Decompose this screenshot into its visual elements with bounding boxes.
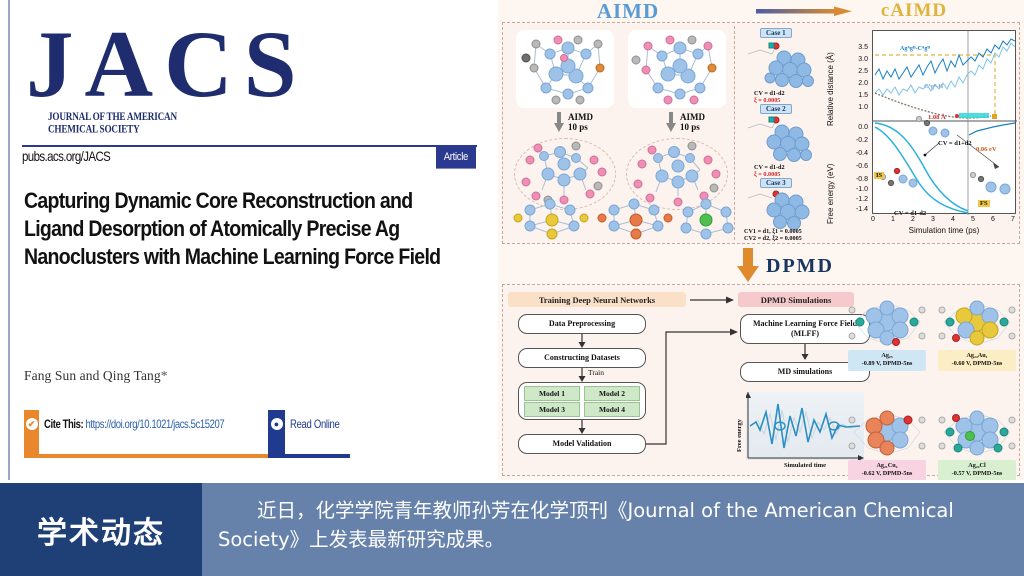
simulation-chart: Relative distance (Å) Free energy (eV) 3…: [828, 28, 1020, 240]
mini-plot-xlabel: Simulated time: [746, 462, 864, 469]
ytick-top-3: 2.0: [842, 80, 868, 87]
jacs-logo: J A C S JOURNAL OF THE AMERICAN CHEMICAL…: [22, 8, 204, 138]
paper-first-page: J A C S JOURNAL OF THE AMERICAN CHEMICAL…: [8, 0, 490, 480]
header-aimd: AIMD: [528, 0, 728, 22]
aimd-arrow-down-1: [554, 112, 564, 132]
annotation-fs: FS: [978, 200, 990, 207]
flow-arrow-down-2: [578, 368, 586, 382]
xtick-3: 3: [926, 216, 940, 223]
model-2[interactable]: Model 2: [584, 386, 640, 401]
case-3-cv2: CV2 = d2, ξ2 = 0.0005: [744, 235, 802, 242]
case-3-structure: [742, 186, 824, 230]
annotation-series-1: Agᴬgᴰ-Cᴬgᴰ: [900, 46, 930, 52]
pubs-url: pubs.acs.org/JACS: [22, 150, 110, 165]
result-formula-2: Ag₂₄Au₁: [938, 352, 1016, 360]
result-formula-3: Ag₂₁Cu₄: [848, 462, 926, 470]
header-aimd-text: AIMD: [597, 0, 659, 23]
doped-cluster-cu: [596, 196, 674, 242]
case-3-cv1: CV1 = d1, ξ1 = 0.0005: [744, 228, 802, 235]
aimd-step-label-2: AIMD 10 ps: [680, 112, 705, 133]
article-type-badge: Article: [436, 147, 476, 169]
annotation-cv-sum: CV = d1+d2: [938, 140, 972, 147]
header-caimd: cAIMD: [824, 0, 1004, 22]
paper-authors: Fang Sun and Qing Tang*: [24, 368, 168, 384]
cite-this-label: Cite This:: [44, 418, 83, 432]
result-detail-1: -0.89 V, DPMD-5ns: [848, 360, 926, 368]
xtick-2: 2: [906, 216, 920, 223]
arrow-down-icon: [736, 248, 760, 282]
result-caption-2: Ag₂₄Au₁ -0.60 V, DPMD-5ns: [938, 350, 1016, 371]
xtick-6: 6: [986, 216, 1000, 223]
case-2-xi: ξ = 0.0005: [754, 171, 780, 178]
ytick-bot-6: -1.2: [842, 196, 868, 203]
chart-ylabel-bottom: Free energy (eV): [826, 164, 835, 224]
bottom-banner: 学术动态 近日，化学学院青年教师孙芳在化学顶刊《Journal of the A…: [0, 483, 1024, 576]
result-detail-2: -0.60 V, DPMD-5ns: [938, 360, 1016, 368]
annotation-is: IS: [874, 172, 884, 179]
jacs-letter-c: C: [164, 21, 232, 108]
cite-this-text: Cite This: https://doi.org/10.1021/jacs.…: [44, 418, 224, 432]
ytick-bot-5: -1.0: [842, 186, 868, 193]
xtick-4: 4: [946, 216, 960, 223]
chart-plot-area: [872, 30, 1016, 214]
result-caption-3: Ag₂₁Cu₄ -0.62 V, DPMD-5ns: [848, 460, 926, 480]
ytick-bot-1: -0.2: [842, 137, 868, 144]
annotation-distance: 1.08 Å: [928, 114, 946, 121]
model-1[interactable]: Model 1: [524, 386, 580, 401]
result-cluster-ag25: [844, 296, 930, 350]
banner-title: 学术动态: [37, 508, 165, 552]
result-caption-1: Ag₂₅ -0.89 V, DPMD-5ns: [848, 350, 926, 371]
dpmd-right-header: DPMD Simulations: [738, 292, 854, 307]
flow-step-data-preprocessing[interactable]: Data Preprocessing: [518, 314, 646, 334]
corresponding-author-star: *: [161, 368, 168, 383]
jacs-letter-s: S: [244, 21, 296, 108]
flow-arrow-down-3: [578, 420, 586, 434]
annotation-barrier: 0.06 eV: [976, 146, 997, 153]
ytick-top-5: 1.0: [842, 104, 868, 111]
doped-cluster-cl: [674, 196, 740, 242]
chart-ylabel-top: Relative distance (Å): [826, 52, 835, 126]
ytick-top-4: 1.5: [842, 92, 868, 99]
read-online-icon: ●: [271, 418, 283, 430]
read-online-label[interactable]: Read Online: [290, 418, 340, 432]
model-4[interactable]: Model 4: [584, 402, 640, 417]
xtick-0: 0: [866, 216, 880, 223]
paper-title: Capturing Dynamic Core Reconstruction an…: [24, 188, 476, 272]
doi-link[interactable]: https://doi.org/10.1021/jacs.5c15207: [86, 418, 225, 432]
case-tag-1: Case 1: [760, 28, 792, 38]
result-detail-3: -0.62 V, DPMD-5ns: [848, 470, 926, 478]
result-cluster-ag24cl: [934, 406, 1020, 460]
annotation-cv-diff: CV = d1-d2: [894, 210, 926, 217]
ytick-bot-0: 0.0: [842, 124, 868, 131]
jacs-logo-subtitle: JOURNAL OF THE AMERICAN CHEMICAL SOCIETY: [22, 110, 204, 135]
cite-accent-bar-bottom: [24, 454, 276, 458]
chart-xlabel: Simulation time (ps): [872, 226, 1016, 235]
case-1-xi: ξ = 0.0005: [754, 97, 780, 104]
chart-curves: [873, 31, 1017, 215]
ytick-top-1: 3.0: [842, 56, 868, 63]
case-tag-2: Case 2: [760, 104, 792, 114]
aimd-arrow-down-2: [666, 112, 676, 132]
read-online-block[interactable]: ● Read Online: [268, 410, 350, 458]
jacs-logo-letters: J A C S: [22, 8, 204, 108]
header-rule: [22, 145, 477, 147]
dpmd-left-header: Training Deep Neural Networks: [508, 292, 686, 307]
author-names: Fang Sun and Qing Tang: [24, 368, 161, 383]
ag-cluster-structure-2: [628, 30, 726, 108]
jacs-letter-j: J: [26, 21, 73, 108]
case-2-structure: [742, 114, 824, 166]
ag-cluster-structure-1: [516, 30, 614, 108]
header-caimd-text: cAIMD: [881, 0, 947, 21]
xtick-1: 1: [886, 216, 900, 223]
result-caption-4: Ag₂₄Cl -0.57 V, DPMD-5ns: [938, 460, 1016, 480]
annotation-series-2: Cᴬgᴰ-H: [924, 84, 943, 90]
flow-label-train: Train: [588, 369, 604, 378]
ytick-top-0: 3.5: [842, 44, 868, 51]
ytick-bot-7: -1.4: [842, 206, 868, 213]
mini-plot-ylabel: Free energy: [736, 419, 743, 452]
header-dpmd: DPMD: [766, 253, 834, 279]
case-1-cv: CV = d1-d2: [754, 90, 785, 97]
model-3[interactable]: Model 3: [524, 402, 580, 417]
flow-step-model-validation[interactable]: Model Validation: [518, 434, 646, 454]
case-1-structure: [742, 38, 824, 92]
flow-arrow-down-1: [578, 334, 586, 348]
ytick-bot-2: -0.4: [842, 150, 868, 157]
ytick-bot-4: -0.8: [842, 176, 868, 183]
xtick-5: 5: [966, 216, 980, 223]
aimd-step-label-1: AIMD 10 ps: [568, 112, 593, 133]
toc-graphic: AIMD cAIMD DPMD: [498, 0, 1024, 480]
ytick-bot-3: -0.6: [842, 163, 868, 170]
flow-arrow-validation-to-mlff: [646, 322, 740, 446]
case-2-cv: CV = d1-d2: [754, 164, 785, 171]
flow-arrow-down-4: [801, 344, 809, 360]
banner-description: 近日，化学学院青年教师孙芳在化学顶刊《Journal of the Americ…: [218, 497, 1008, 555]
doped-cluster-au: [512, 196, 590, 242]
header-dpmd-text: DPMD: [766, 255, 834, 277]
cite-this-block[interactable]: ✔ Cite This: https://doi.org/10.1021/jac…: [24, 410, 276, 458]
result-formula-1: Ag₂₅: [848, 352, 926, 360]
result-cluster-ag21cu4: [844, 406, 930, 460]
banner-title-block: 学术动态: [0, 483, 202, 576]
jacs-letter-a: A: [85, 21, 153, 108]
xtick-7: 7: [1006, 216, 1020, 223]
result-cluster-ag24au1: [934, 296, 1020, 350]
result-formula-4: Ag₂₄Cl: [938, 462, 1016, 470]
ytick-top-2: 2.5: [842, 68, 868, 75]
read-accent-bar-bottom: [268, 454, 350, 458]
result-detail-4: -0.57 V, DPMD-5ns: [938, 470, 1016, 478]
flow-arrow-right-main: [690, 296, 734, 304]
flow-step-constructing-datasets[interactable]: Constructing Datasets: [518, 348, 646, 368]
check-circle-icon: ✔: [26, 418, 38, 430]
